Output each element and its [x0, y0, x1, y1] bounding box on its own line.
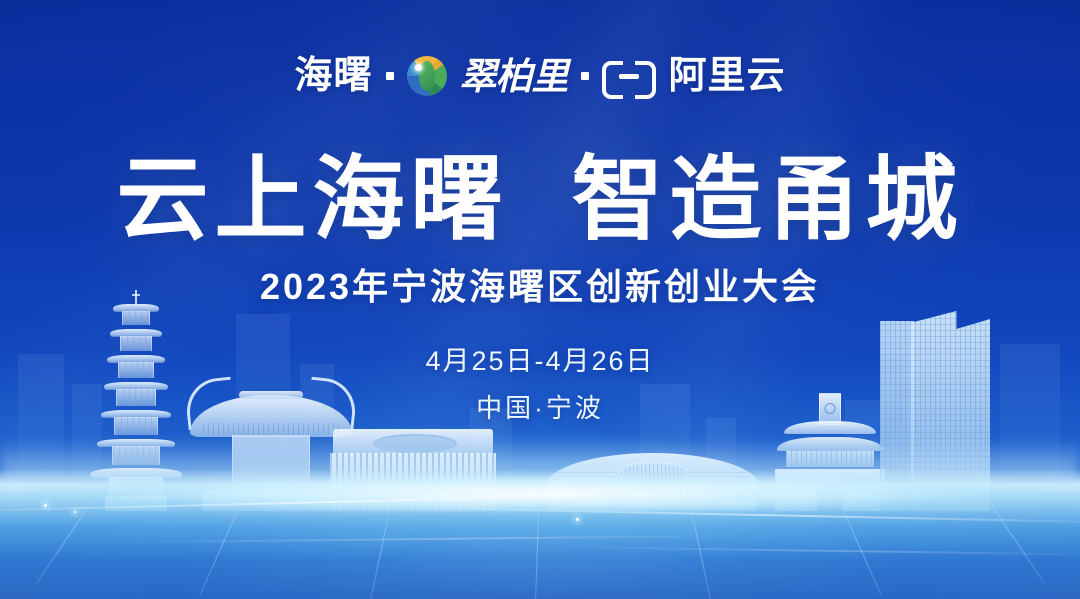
cloud-name-text: 阿里云 [669, 57, 786, 95]
district-logo-text: 海曙 [294, 57, 372, 95]
event-location: 中国·宁波 [0, 395, 1080, 421]
cuibaili-circle-logo-icon [407, 56, 447, 96]
page-title: 云上海曙 智造甬城 [0, 152, 1080, 249]
alibaba-cloud-bracket-logo-icon [602, 61, 656, 91]
partner-name-text: 翠柏里 [460, 58, 568, 95]
event-meta-block: 4月25日-4月26日 中国·宁波 [0, 348, 1080, 421]
logo-row: 海曙 翠柏里 阿里云 [0, 56, 1080, 96]
event-banner: 海曙 翠柏里 阿里云 云上海曙 智造甬城 2023年宁波海曙区创新创业大会 4月… [0, 0, 1080, 599]
page-subtitle: 2023年宁波海曙区创新创业大会 [0, 269, 1080, 305]
separator-dot-icon [581, 72, 589, 80]
headline-block: 云上海曙 智造甬城 2023年宁波海曙区创新创业大会 [0, 152, 1080, 305]
separator-dot-icon [386, 72, 394, 80]
event-date: 4月25日-4月26日 [0, 348, 1080, 375]
